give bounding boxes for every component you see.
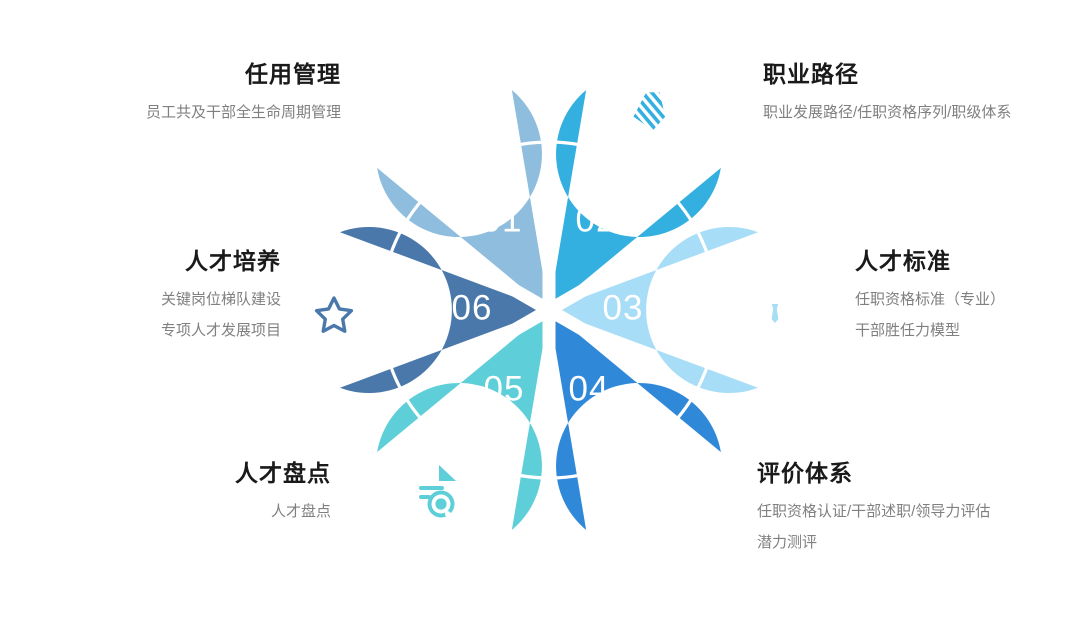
label-sub-04-0: 任职资格认证/干部述职/领导力评估 (757, 501, 990, 523)
label-title-05: 人才盘点 (235, 457, 331, 490)
infographic-canvas: 01 02 03 04 05 06 (0, 0, 1081, 626)
label-title-01: 任用管理 (146, 58, 341, 91)
necktie-icon (632, 76, 667, 132)
label-block-02: 职业路径 职业发展路径/任职资格序列/职级体系 (763, 58, 1011, 124)
label-sub-06-0: 关键岗位梯队建设 (161, 289, 281, 311)
petal-number-01: 01 (482, 200, 523, 239)
petal-04[interactable] (549, 310, 721, 530)
label-sub-06-1: 专项人才发展项目 (161, 320, 281, 342)
petal-group (340, 90, 758, 530)
label-block-05: 人才盘点 人才盘点 (235, 457, 331, 523)
petal-05-shape[interactable] (377, 310, 549, 530)
label-sub-03-1: 干部胜任力模型 (855, 320, 1005, 342)
label-sub-03-0: 任职资格标准（专业） (855, 289, 1005, 311)
label-sub-02-0: 职业发展路径/任职资格序列/职级体系 (763, 102, 1011, 124)
document-search-icon (412, 465, 456, 522)
label-block-04: 评价体系 任职资格认证/干部述职/领导力评估 潜力测评 (757, 457, 990, 554)
label-title-04: 评价体系 (757, 457, 990, 490)
person-tie-icon (748, 270, 802, 325)
label-sub-04-1: 潜力测评 (757, 532, 990, 554)
petal-05[interactable] (377, 310, 549, 530)
label-block-01: 任用管理 员工共及干部全生命周期管理 (146, 58, 341, 124)
petal-number-03: 03 (603, 288, 644, 327)
label-title-03: 人才标准 (855, 245, 1005, 278)
label-sub-05-0: 人才盘点 (235, 501, 331, 523)
petal-number-02: 02 (576, 200, 617, 239)
petal-number-06: 06 (452, 288, 493, 327)
petal-04-shape[interactable] (549, 310, 721, 530)
label-block-06: 人才培养 关键岗位梯队建设 专项人才发展项目 (161, 245, 281, 342)
petal-number-04: 04 (569, 369, 610, 408)
label-sub-01-0: 员工共及干部全生命周期管理 (146, 102, 341, 124)
label-title-06: 人才培养 (161, 245, 281, 278)
petal-01-shape[interactable] (377, 90, 549, 310)
users-icon (420, 81, 475, 119)
label-title-02: 职业路径 (763, 58, 1011, 91)
person-star-icon (286, 271, 351, 331)
label-block-03: 人才标准 任职资格标准（专业） 干部胜任力模型 (855, 245, 1005, 342)
edit-square-icon (635, 465, 684, 514)
petal-01[interactable] (377, 90, 549, 310)
petal-number-05: 05 (484, 369, 525, 408)
